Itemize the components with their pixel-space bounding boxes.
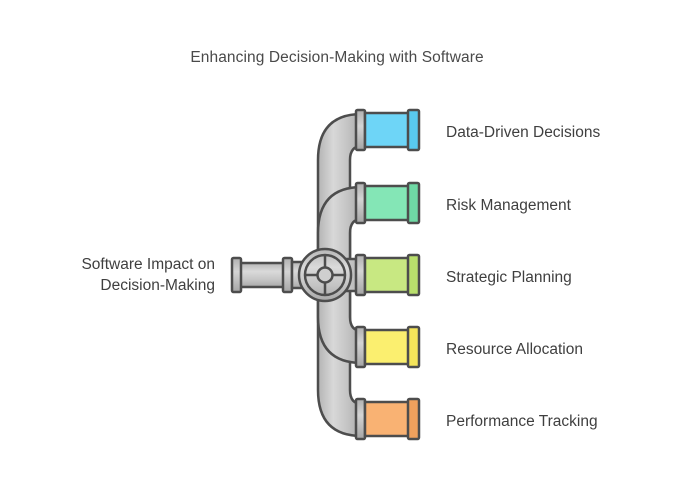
branch-pipe bbox=[356, 183, 419, 223]
inlet-pipe-icon bbox=[232, 258, 306, 292]
branch-label-5: Performance Tracking bbox=[446, 413, 598, 431]
branch-label-2: Risk Management bbox=[446, 197, 571, 215]
branch-label-3: Strategic Planning bbox=[446, 269, 572, 287]
branch-pipe bbox=[356, 255, 419, 295]
branch-pipe bbox=[356, 327, 419, 367]
branch-pipe bbox=[356, 399, 419, 439]
branch-pipe bbox=[356, 110, 419, 150]
valve-wheel-icon bbox=[299, 249, 351, 301]
branch-label-4: Resource Allocation bbox=[446, 341, 583, 359]
branch-label-1: Data-Driven Decisions bbox=[446, 124, 600, 142]
